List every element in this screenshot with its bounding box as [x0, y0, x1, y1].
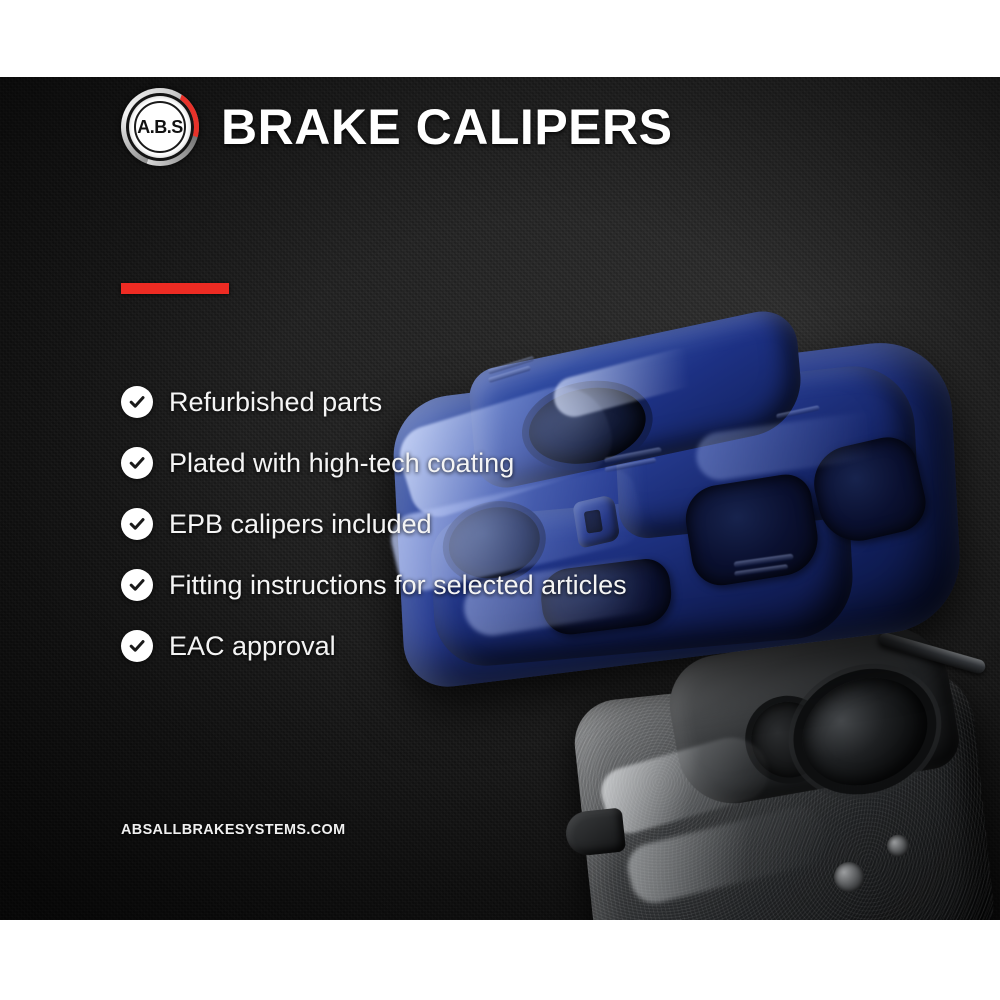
check-circle-icon: [121, 569, 153, 601]
grey-caliper-highlight: [623, 801, 832, 908]
list-item: Fitting instructions for selected articl…: [121, 569, 627, 601]
product-banner: A.B.S BRAKE CALIPERS Refurbished parts P…: [0, 0, 1000, 1000]
list-item: Refurbished parts: [121, 386, 627, 418]
blue-caliper-bridge: [613, 360, 920, 541]
grey-caliper-bolt: [886, 834, 910, 858]
grey-caliper-highlight: [596, 729, 776, 839]
blue-caliper-gloss-highlight: [693, 409, 888, 483]
grey-caliper-texture: [570, 662, 998, 920]
feature-label: EAC approval: [169, 633, 336, 660]
blue-caliper-window: [681, 471, 823, 590]
grey-caliper-upper-housing: [662, 616, 964, 812]
abs-logo-icon: A.B.S: [121, 88, 199, 166]
grey-caliper-guide-pin: [877, 631, 987, 675]
blue-caliper-cast-rib: [734, 564, 788, 576]
accent-rule: [121, 283, 229, 294]
list-item: Plated with high-tech coating: [121, 447, 627, 479]
feature-label: Fitting instructions for selected articl…: [169, 572, 627, 599]
website-url: ABSALLBRAKESYSTEMS.COM: [121, 821, 345, 838]
feature-label: EPB calipers included: [169, 511, 432, 538]
banner-header: A.B.S BRAKE CALIPERS: [121, 88, 672, 166]
grey-caliper-body: [570, 662, 998, 920]
blue-caliper-cast-rib: [733, 554, 793, 568]
feature-list: Refurbished parts Plated with high-tech …: [121, 386, 627, 662]
check-circle-icon: [121, 630, 153, 662]
grey-caliper-piston-bore: [786, 659, 944, 803]
check-circle-icon: [121, 508, 153, 540]
check-circle-icon: [121, 386, 153, 418]
grey-caliper-bolt: [833, 861, 866, 894]
blue-caliper-window: [807, 431, 932, 548]
grey-caliper-secondary-bore: [741, 691, 837, 788]
blue-caliper-cast-rib: [487, 356, 534, 375]
feature-label: Plated with high-tech coating: [169, 450, 514, 477]
list-item: EPB calipers included: [121, 508, 627, 540]
grey-caliper-mounting-ear: [564, 807, 626, 857]
list-item: EAC approval: [121, 630, 627, 662]
blue-caliper-cast-rib: [776, 405, 820, 419]
check-circle-icon: [121, 447, 153, 479]
feature-label: Refurbished parts: [169, 389, 382, 416]
blue-caliper-cast-rib: [488, 365, 532, 383]
page-title: BRAKE CALIPERS: [221, 102, 672, 152]
